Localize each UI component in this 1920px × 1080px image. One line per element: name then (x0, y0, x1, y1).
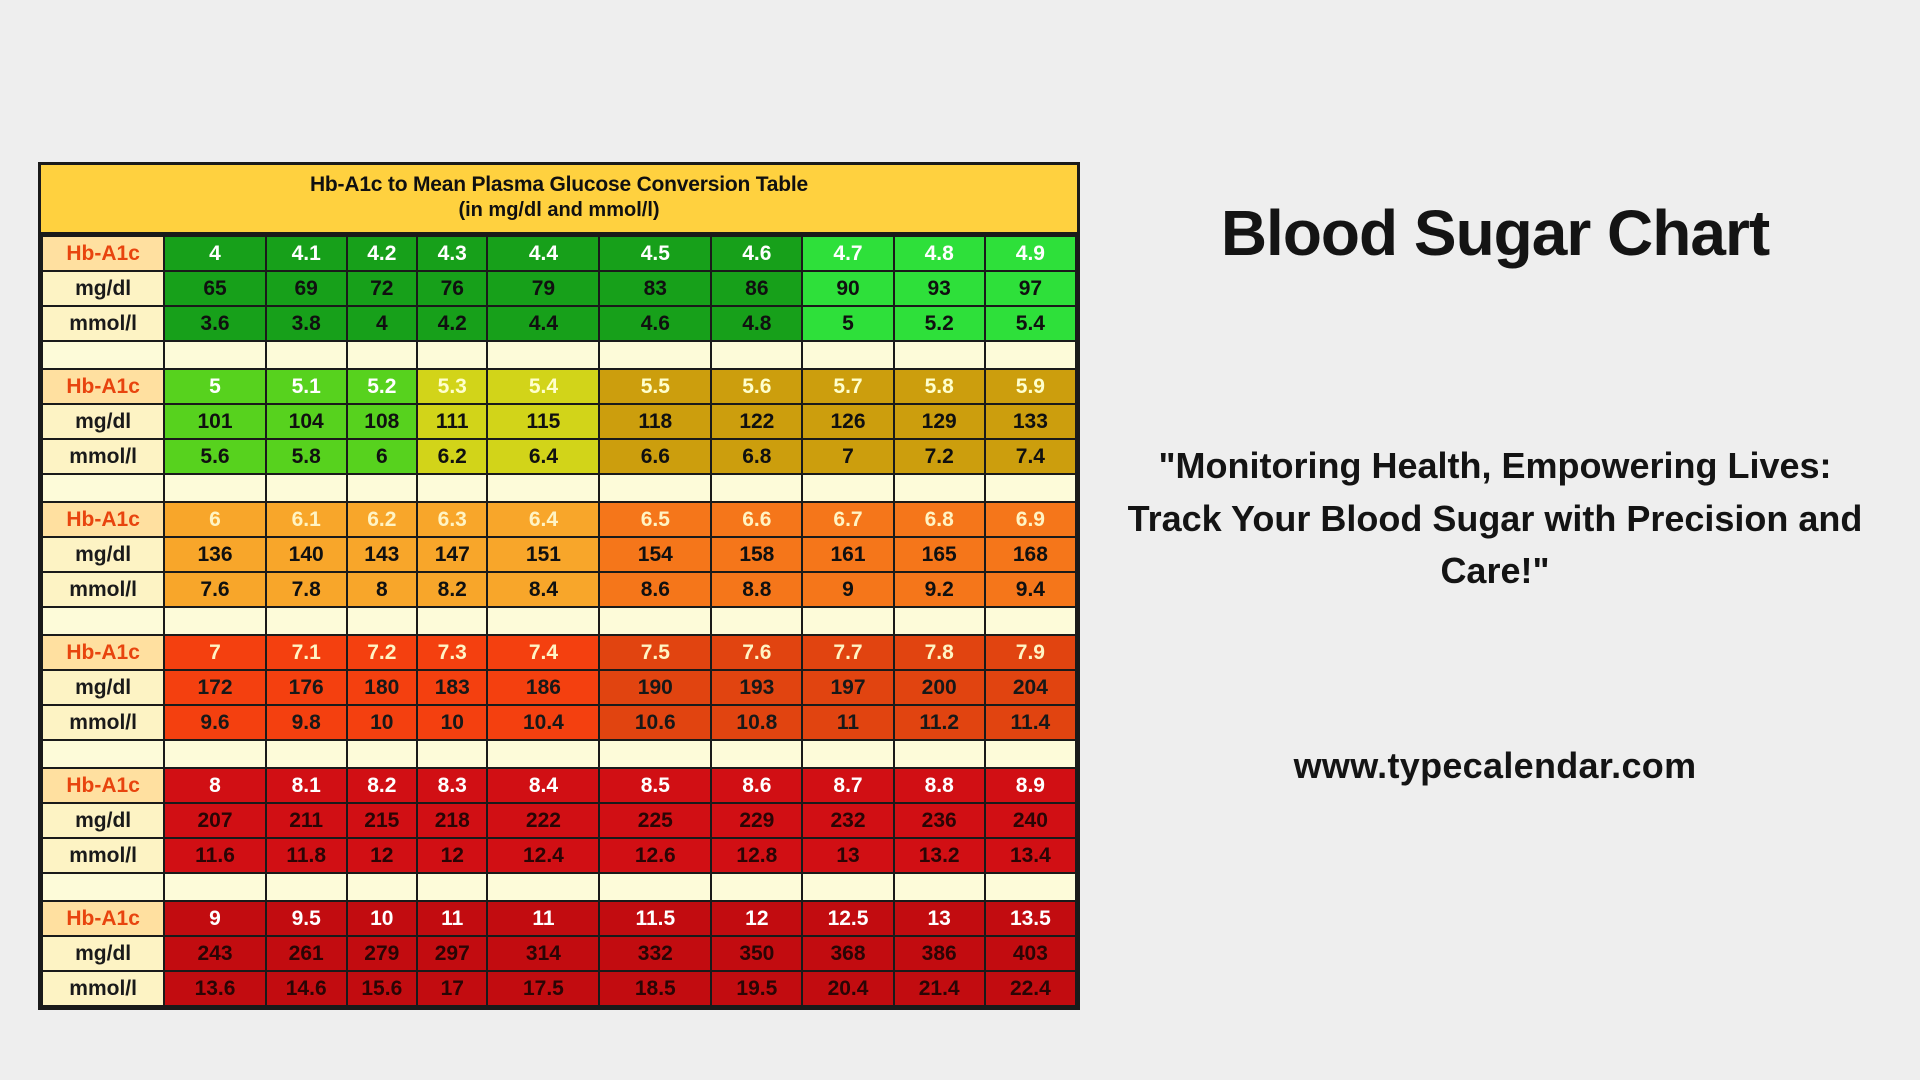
data-cell: 18.5 (599, 971, 711, 1006)
data-cell: 9 (164, 901, 266, 936)
spacer-cell (894, 474, 985, 502)
spacer-cell (487, 341, 599, 369)
table-row: mmol/l9.69.8101010.410.610.81111.211.4 (42, 705, 1076, 740)
right-panel: Blood Sugar Chart "Monitoring Health, Em… (1100, 160, 1890, 787)
data-cell: 386 (894, 936, 985, 971)
data-cell: 115 (487, 404, 599, 439)
data-cell: 6.6 (711, 502, 802, 537)
data-cell: 4.6 (599, 306, 711, 341)
data-cell: 20.4 (802, 971, 893, 1006)
spacer-cell (417, 607, 487, 635)
data-cell: 183 (417, 670, 487, 705)
data-cell: 332 (599, 936, 711, 971)
table-row: mmol/l11.611.8121212.412.612.81313.213.4 (42, 838, 1076, 873)
spacer-cell (347, 607, 417, 635)
data-cell: 118 (599, 404, 711, 439)
data-cell: 193 (711, 670, 802, 705)
spacer-cell (711, 873, 802, 901)
spacer-cell (417, 873, 487, 901)
data-cell: 5.2 (894, 306, 985, 341)
data-cell: 101 (164, 404, 266, 439)
spacer-cell (164, 607, 266, 635)
data-cell: 229 (711, 803, 802, 838)
data-cell: 4.8 (711, 306, 802, 341)
data-cell: 240 (985, 803, 1076, 838)
data-cell: 5.8 (266, 439, 347, 474)
data-cell: 6.7 (802, 502, 893, 537)
data-cell: 69 (266, 271, 347, 306)
data-cell: 13.6 (164, 971, 266, 1006)
data-cell: 314 (487, 936, 599, 971)
data-cell: 279 (347, 936, 417, 971)
data-cell: 6 (164, 502, 266, 537)
data-cell: 197 (802, 670, 893, 705)
spacer-cell (487, 740, 599, 768)
table-row: Hb-A1c88.18.28.38.48.58.68.78.88.9 (42, 768, 1076, 803)
data-cell: 10 (347, 901, 417, 936)
row-label-mgdl: mg/dl (42, 670, 164, 705)
data-cell: 8.2 (417, 572, 487, 607)
data-cell: 165 (894, 537, 985, 572)
table-row: mmol/l7.67.888.28.48.68.899.29.4 (42, 572, 1076, 607)
data-cell: 6.8 (711, 439, 802, 474)
data-cell: 10.4 (487, 705, 599, 740)
spacer-cell (802, 341, 893, 369)
table-row: Hb-A1c44.14.24.34.44.54.64.74.84.9 (42, 236, 1076, 271)
data-cell: 176 (266, 670, 347, 705)
data-cell: 8.6 (711, 768, 802, 803)
data-cell: 10.8 (711, 705, 802, 740)
data-cell: 211 (266, 803, 347, 838)
row-label-a1c: Hb-A1c (42, 635, 164, 670)
data-cell: 154 (599, 537, 711, 572)
row-label-a1c: Hb-A1c (42, 768, 164, 803)
data-cell: 8.8 (711, 572, 802, 607)
data-cell: 8.6 (599, 572, 711, 607)
data-cell: 5.1 (266, 369, 347, 404)
row-label-mmol: mmol/l (42, 971, 164, 1006)
spacer-cell (599, 740, 711, 768)
data-cell: 4.5 (599, 236, 711, 271)
spacer-cell (417, 341, 487, 369)
data-cell: 6.6 (599, 439, 711, 474)
spacer-cell (985, 607, 1076, 635)
data-cell: 13.4 (985, 838, 1076, 873)
data-cell: 8.7 (802, 768, 893, 803)
data-cell: 129 (894, 404, 985, 439)
row-label-mgdl: mg/dl (42, 936, 164, 971)
spacer-cell (42, 873, 164, 901)
data-cell: 65 (164, 271, 266, 306)
data-cell: 7.9 (985, 635, 1076, 670)
data-cell: 180 (347, 670, 417, 705)
data-cell: 7.6 (164, 572, 266, 607)
data-cell: 108 (347, 404, 417, 439)
data-cell: 5.6 (711, 369, 802, 404)
spacer-cell (802, 474, 893, 502)
data-cell: 10 (417, 705, 487, 740)
spacer-cell (164, 474, 266, 502)
spacer-cell (802, 873, 893, 901)
spacer-cell (42, 607, 164, 635)
data-cell: 10.6 (599, 705, 711, 740)
data-cell: 8.2 (347, 768, 417, 803)
row-label-mgdl: mg/dl (42, 537, 164, 572)
spacer-cell (266, 607, 347, 635)
data-cell: 8.4 (487, 572, 599, 607)
data-cell: 4.6 (711, 236, 802, 271)
spacer-cell (599, 474, 711, 502)
data-cell: 4.2 (347, 236, 417, 271)
spacer-cell (487, 873, 599, 901)
data-cell: 5.8 (894, 369, 985, 404)
data-cell: 12 (347, 838, 417, 873)
data-cell: 104 (266, 404, 347, 439)
data-cell: 168 (985, 537, 1076, 572)
table-row: Hb-A1c99.510111111.51212.51313.5 (42, 901, 1076, 936)
data-cell: 232 (802, 803, 893, 838)
data-cell: 11.8 (266, 838, 347, 873)
data-cell: 4.4 (487, 306, 599, 341)
data-cell: 5.4 (487, 369, 599, 404)
table-row: mg/dl172176180183186190193197200204 (42, 670, 1076, 705)
spacer-cell (894, 740, 985, 768)
data-cell: 350 (711, 936, 802, 971)
spacer-cell (711, 474, 802, 502)
data-cell: 140 (266, 537, 347, 572)
table-row: mg/dl136140143147151154158161165168 (42, 537, 1076, 572)
data-cell: 236 (894, 803, 985, 838)
data-cell: 7 (802, 439, 893, 474)
data-cell: 13.2 (894, 838, 985, 873)
spacer-cell (487, 607, 599, 635)
data-cell: 7.2 (347, 635, 417, 670)
spacer-cell (985, 740, 1076, 768)
data-cell: 6.3 (417, 502, 487, 537)
data-cell: 297 (417, 936, 487, 971)
data-cell: 5.2 (347, 369, 417, 404)
data-cell: 5.4 (985, 306, 1076, 341)
data-cell: 368 (802, 936, 893, 971)
data-cell: 8.5 (599, 768, 711, 803)
data-cell: 218 (417, 803, 487, 838)
data-cell: 3.6 (164, 306, 266, 341)
data-cell: 21.4 (894, 971, 985, 1006)
row-label-a1c: Hb-A1c (42, 901, 164, 936)
data-cell: 7.8 (894, 635, 985, 670)
table-spacer-row (42, 607, 1076, 635)
data-cell: 8 (164, 768, 266, 803)
spacer-cell (42, 341, 164, 369)
conversion-table: Hb-A1c44.14.24.34.44.54.64.74.84.9mg/dl6… (41, 235, 1077, 1007)
row-label-mgdl: mg/dl (42, 404, 164, 439)
data-cell: 8.3 (417, 768, 487, 803)
data-cell: 8.1 (266, 768, 347, 803)
data-cell: 8.8 (894, 768, 985, 803)
row-label-mmol: mmol/l (42, 705, 164, 740)
data-cell: 6.2 (417, 439, 487, 474)
spacer-cell (266, 873, 347, 901)
data-cell: 161 (802, 537, 893, 572)
data-cell: 111 (417, 404, 487, 439)
spacer-cell (599, 873, 711, 901)
spacer-cell (164, 740, 266, 768)
table-row: mmol/l5.65.866.26.46.66.877.27.4 (42, 439, 1076, 474)
row-label-mmol: mmol/l (42, 306, 164, 341)
data-cell: 204 (985, 670, 1076, 705)
data-cell: 19.5 (711, 971, 802, 1006)
data-cell: 207 (164, 803, 266, 838)
table-row: mg/dl243261279297314332350368386403 (42, 936, 1076, 971)
spacer-cell (711, 607, 802, 635)
spacer-cell (599, 341, 711, 369)
data-cell: 97 (985, 271, 1076, 306)
spacer-cell (266, 341, 347, 369)
spacer-cell (417, 474, 487, 502)
page-title: Blood Sugar Chart (1100, 160, 1890, 268)
table-row: Hb-A1c77.17.27.37.47.57.67.77.87.9 (42, 635, 1076, 670)
data-cell: 9.5 (266, 901, 347, 936)
data-cell: 3.8 (266, 306, 347, 341)
data-cell: 86 (711, 271, 802, 306)
row-label-mgdl: mg/dl (42, 803, 164, 838)
data-cell: 7.2 (894, 439, 985, 474)
data-cell: 5.3 (417, 369, 487, 404)
spacer-cell (985, 474, 1076, 502)
table-spacer-row (42, 474, 1076, 502)
spacer-cell (164, 873, 266, 901)
data-cell: 9 (802, 572, 893, 607)
data-cell: 83 (599, 271, 711, 306)
data-cell: 11.6 (164, 838, 266, 873)
conversion-table-body: Hb-A1c44.14.24.34.44.54.64.74.84.9mg/dl6… (42, 236, 1076, 1006)
data-cell: 190 (599, 670, 711, 705)
data-cell: 17.5 (487, 971, 599, 1006)
data-cell: 126 (802, 404, 893, 439)
data-cell: 6.5 (599, 502, 711, 537)
conversion-table-card: Hb-A1c to Mean Plasma Glucose Conversion… (38, 162, 1080, 1010)
data-cell: 4 (347, 306, 417, 341)
row-label-a1c: Hb-A1c (42, 502, 164, 537)
table-row: mmol/l13.614.615.61717.518.519.520.421.4… (42, 971, 1076, 1006)
spacer-cell (894, 873, 985, 901)
data-cell: 200 (894, 670, 985, 705)
data-cell: 11.2 (894, 705, 985, 740)
data-cell: 4.8 (894, 236, 985, 271)
data-cell: 4 (164, 236, 266, 271)
table-spacer-row (42, 740, 1076, 768)
data-cell: 4.9 (985, 236, 1076, 271)
data-cell: 225 (599, 803, 711, 838)
data-cell: 7.4 (487, 635, 599, 670)
data-cell: 5.9 (985, 369, 1076, 404)
data-cell: 243 (164, 936, 266, 971)
tagline-quote: "Monitoring Health, Empowering Lives: Tr… (1100, 268, 1890, 597)
data-cell: 222 (487, 803, 599, 838)
row-label-mmol: mmol/l (42, 838, 164, 873)
data-cell: 12.5 (802, 901, 893, 936)
data-cell: 4.7 (802, 236, 893, 271)
data-cell: 17 (417, 971, 487, 1006)
data-cell: 13 (802, 838, 893, 873)
data-cell: 122 (711, 404, 802, 439)
data-cell: 7.6 (711, 635, 802, 670)
spacer-cell (347, 740, 417, 768)
data-cell: 11.4 (985, 705, 1076, 740)
spacer-cell (894, 607, 985, 635)
spacer-cell (266, 474, 347, 502)
data-cell: 9.4 (985, 572, 1076, 607)
data-cell: 76 (417, 271, 487, 306)
data-cell: 22.4 (985, 971, 1076, 1006)
data-cell: 12 (417, 838, 487, 873)
data-cell: 6.2 (347, 502, 417, 537)
data-cell: 12 (711, 901, 802, 936)
data-cell: 158 (711, 537, 802, 572)
spacer-cell (487, 474, 599, 502)
data-cell: 5.7 (802, 369, 893, 404)
data-cell: 93 (894, 271, 985, 306)
table-row: mmol/l3.63.844.24.44.64.855.25.4 (42, 306, 1076, 341)
data-cell: 5.5 (599, 369, 711, 404)
data-cell: 5 (802, 306, 893, 341)
data-cell: 9.8 (266, 705, 347, 740)
data-cell: 147 (417, 537, 487, 572)
table-title-units: (in mg/dl and mmol/l) (41, 198, 1077, 223)
website-url: www.typecalendar.com (1100, 597, 1890, 787)
spacer-cell (347, 873, 417, 901)
data-cell: 5.6 (164, 439, 266, 474)
data-cell: 15.6 (347, 971, 417, 1006)
data-cell: 6 (347, 439, 417, 474)
spacer-cell (42, 740, 164, 768)
data-cell: 186 (487, 670, 599, 705)
row-label-a1c: Hb-A1c (42, 369, 164, 404)
data-cell: 11.5 (599, 901, 711, 936)
data-cell: 12.6 (599, 838, 711, 873)
row-label-a1c: Hb-A1c (42, 236, 164, 271)
data-cell: 261 (266, 936, 347, 971)
data-cell: 12.8 (711, 838, 802, 873)
spacer-cell (802, 607, 893, 635)
data-cell: 8.9 (985, 768, 1076, 803)
spacer-cell (417, 740, 487, 768)
data-cell: 13.5 (985, 901, 1076, 936)
data-cell: 4.1 (266, 236, 347, 271)
data-cell: 72 (347, 271, 417, 306)
spacer-cell (985, 873, 1076, 901)
data-cell: 11 (417, 901, 487, 936)
data-cell: 7.7 (802, 635, 893, 670)
table-row: Hb-A1c55.15.25.35.45.55.65.75.85.9 (42, 369, 1076, 404)
data-cell: 136 (164, 537, 266, 572)
data-cell: 14.6 (266, 971, 347, 1006)
spacer-cell (711, 341, 802, 369)
spacer-cell (266, 740, 347, 768)
data-cell: 6.1 (266, 502, 347, 537)
data-cell: 4.3 (417, 236, 487, 271)
data-cell: 9.2 (894, 572, 985, 607)
table-row: mg/dl65697276798386909397 (42, 271, 1076, 306)
data-cell: 143 (347, 537, 417, 572)
data-cell: 79 (487, 271, 599, 306)
spacer-cell (894, 341, 985, 369)
spacer-cell (347, 341, 417, 369)
spacer-cell (42, 474, 164, 502)
data-cell: 7.1 (266, 635, 347, 670)
data-cell: 9.6 (164, 705, 266, 740)
data-cell: 6.4 (487, 439, 599, 474)
data-cell: 7.3 (417, 635, 487, 670)
table-row: mg/dl207211215218222225229232236240 (42, 803, 1076, 838)
spacer-cell (599, 607, 711, 635)
data-cell: 5 (164, 369, 266, 404)
spacer-cell (985, 341, 1076, 369)
row-label-mmol: mmol/l (42, 439, 164, 474)
data-cell: 10 (347, 705, 417, 740)
table-row: Hb-A1c66.16.26.36.46.56.66.76.86.9 (42, 502, 1076, 537)
table-spacer-row (42, 341, 1076, 369)
data-cell: 8 (347, 572, 417, 607)
table-title-block: Hb-A1c to Mean Plasma Glucose Conversion… (41, 165, 1077, 235)
spacer-cell (164, 341, 266, 369)
data-cell: 11 (802, 705, 893, 740)
data-cell: 215 (347, 803, 417, 838)
data-cell: 151 (487, 537, 599, 572)
data-cell: 6.8 (894, 502, 985, 537)
data-cell: 133 (985, 404, 1076, 439)
spacer-cell (711, 740, 802, 768)
row-label-mmol: mmol/l (42, 572, 164, 607)
data-cell: 13 (894, 901, 985, 936)
data-cell: 7.8 (266, 572, 347, 607)
spacer-cell (347, 474, 417, 502)
data-cell: 7.5 (599, 635, 711, 670)
data-cell: 4.2 (417, 306, 487, 341)
data-cell: 6.4 (487, 502, 599, 537)
data-cell: 8.4 (487, 768, 599, 803)
data-cell: 7 (164, 635, 266, 670)
table-row: mg/dl101104108111115118122126129133 (42, 404, 1076, 439)
data-cell: 172 (164, 670, 266, 705)
table-title-primary: Hb-A1c to Mean Plasma Glucose Conversion… (41, 172, 1077, 198)
data-cell: 403 (985, 936, 1076, 971)
data-cell: 4.4 (487, 236, 599, 271)
spacer-cell (802, 740, 893, 768)
table-spacer-row (42, 873, 1076, 901)
poster-canvas: Hb-A1c to Mean Plasma Glucose Conversion… (0, 0, 1920, 1080)
data-cell: 11 (487, 901, 599, 936)
data-cell: 90 (802, 271, 893, 306)
data-cell: 6.9 (985, 502, 1076, 537)
row-label-mgdl: mg/dl (42, 271, 164, 306)
data-cell: 12.4 (487, 838, 599, 873)
data-cell: 7.4 (985, 439, 1076, 474)
